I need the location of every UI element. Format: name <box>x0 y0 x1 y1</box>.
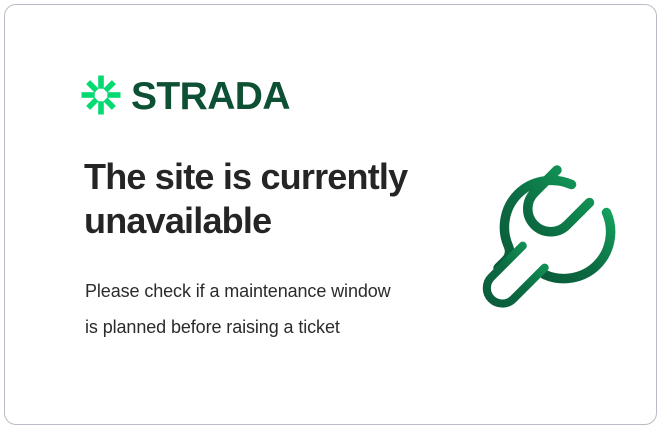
strada-asterisk-icon <box>81 75 121 115</box>
brand-wordmark: STRADA <box>131 77 290 116</box>
status-card: STRADA The site is currently unavailable… <box>4 4 657 425</box>
wrench-icon <box>455 148 620 320</box>
brand-logo: STRADA <box>81 73 290 117</box>
error-page: STRADA The site is currently unavailable… <box>0 0 666 436</box>
page-description: Please check if a maintenance window is … <box>85 273 395 345</box>
page-title: The site is currently unavailable <box>84 155 414 243</box>
